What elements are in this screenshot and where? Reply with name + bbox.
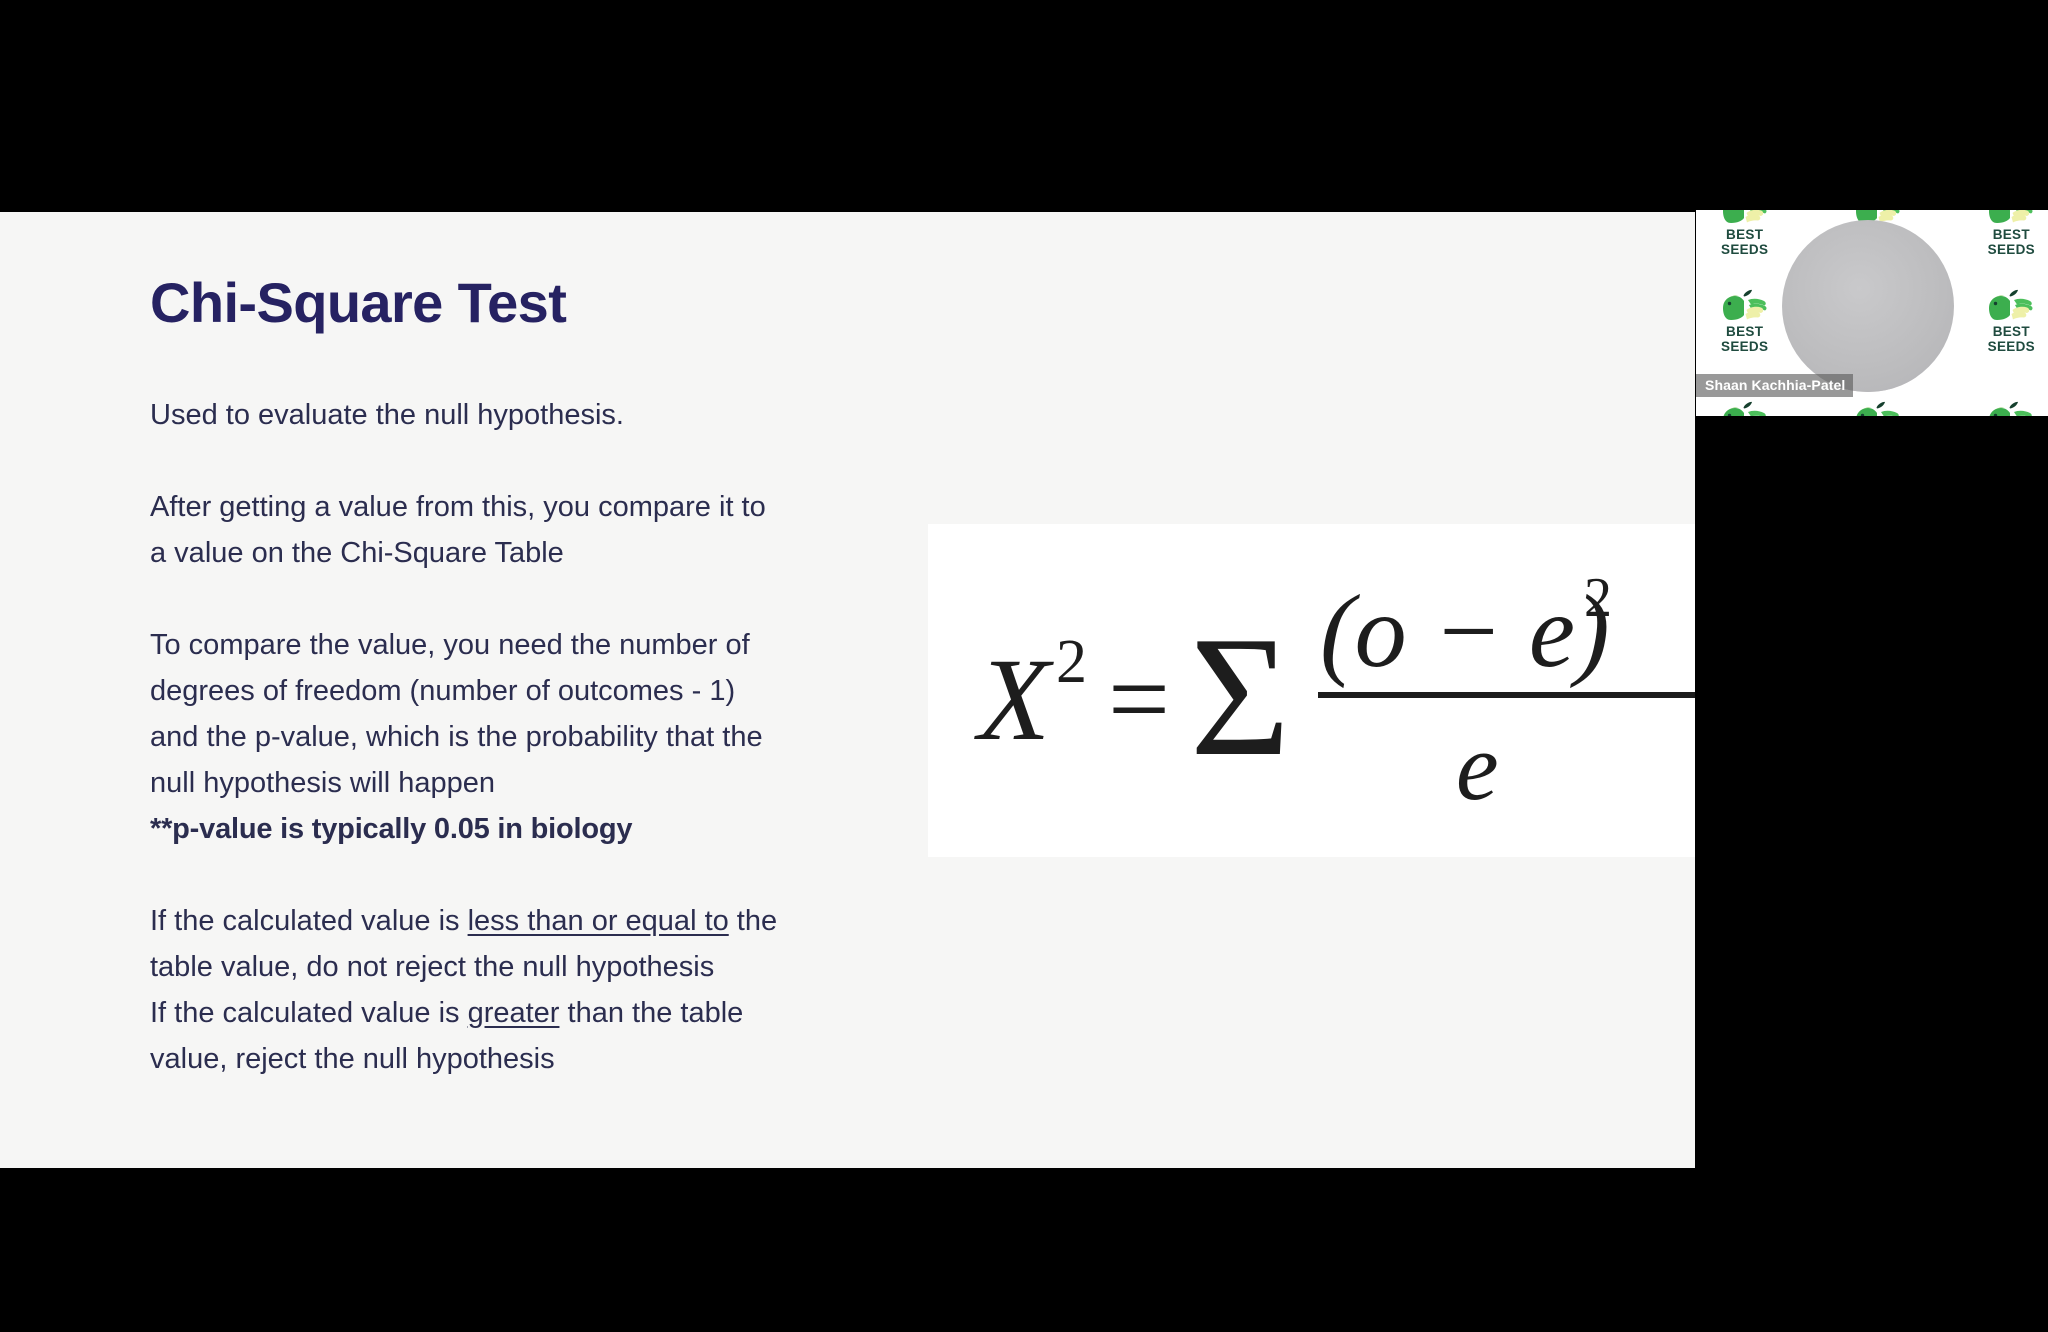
paragraph-intro: Used to evaluate the null hypothesis. <box>150 392 920 438</box>
formula-fraction-bar <box>1318 692 1695 698</box>
webcam-backdrop <box>1782 220 1954 392</box>
presentation-slide: Chi-Square Test Used to evaluate the nul… <box>0 212 1695 1168</box>
body-line: a value on the Chi-Square Table <box>150 537 564 569</box>
paragraph-compare-to-table: After getting a value from this, you com… <box>150 484 920 576</box>
body-line: To compare the value, you need the numbe… <box>150 629 750 661</box>
body-line-part: the <box>729 905 777 937</box>
body-line: After getting a value from this, you com… <box>150 491 766 523</box>
formula-denominator: e <box>1456 713 1499 814</box>
body-line-part: If the calculated value is <box>150 905 468 937</box>
slide-body-text: Used to evaluate the null hypothesis. Af… <box>150 392 920 1082</box>
body-line: and the p-value, which is the probabilit… <box>150 721 763 753</box>
underlined-phrase-less-than-or-equal: less than or equal to <box>468 905 729 937</box>
brand-word-line2: SEEDS <box>1988 243 2035 256</box>
brand-word-line1: BEST <box>1993 325 2030 338</box>
page-title: Chi-Square Test <box>150 274 566 333</box>
paragraph-decision-rules: If the calculated value is less than or … <box>150 898 920 1082</box>
brand-word-line1: BEST <box>1726 228 1763 241</box>
body-line: value, reject the null hypothesis <box>150 1043 555 1075</box>
best-seeds-logo-icon <box>1722 289 1768 323</box>
body-line-part: than the table <box>559 997 743 1029</box>
underlined-phrase-greater: greater <box>468 997 560 1029</box>
brand-word-line1: BEST <box>1993 228 2030 241</box>
best-seeds-logo-icon <box>1722 210 1768 226</box>
body-line-emphasis: **p-value is typically 0.05 in biology <box>150 813 632 845</box>
formula-numerator-exponent: 2 <box>1584 574 1612 629</box>
brand-tile <box>1945 369 2048 416</box>
brand-word-line2: SEEDS <box>1988 340 2035 353</box>
paragraph-degrees-of-freedom: To compare the value, you need the numbe… <box>150 622 920 852</box>
brand-word-line1: BEST <box>1726 325 1763 338</box>
formula-summation-icon: Σ <box>1190 602 1290 792</box>
formula-lhs-exponent: 2 <box>1056 628 1087 696</box>
brand-tile: BEST SEEDS <box>1945 273 2048 370</box>
best-seeds-logo-icon <box>1988 401 2034 416</box>
best-seeds-logo-icon <box>1722 401 1768 416</box>
body-line-part: If the calculated value is <box>150 997 468 1029</box>
participant-video-tile[interactable]: BEST SEEDS BEST SEEDS <box>1696 210 2048 416</box>
body-line: degrees of freedom (number of outcomes -… <box>150 675 735 707</box>
best-seeds-logo-icon <box>1988 289 2034 323</box>
formula-lhs-symbol: X <box>974 634 1054 765</box>
body-line: Used to evaluate the null hypothesis. <box>150 399 624 431</box>
brand-word-line2: SEEDS <box>1721 340 1768 353</box>
formula-graphic: X 2 = Σ (o − e) 2 e <box>968 574 1695 814</box>
formula-numerator: (o − e) <box>1320 574 1610 689</box>
body-line: table value, do not reject the null hypo… <box>150 951 714 983</box>
participant-name-label: Shaan Kachhia-Patel <box>1696 374 1853 397</box>
brand-tile: BEST SEEDS <box>1945 210 2048 273</box>
chi-square-formula-image: X 2 = Σ (o − e) 2 e <box>928 524 1695 857</box>
formula-equals-sign: = <box>1108 638 1170 760</box>
brand-word-line2: SEEDS <box>1721 243 1768 256</box>
screen-share-stage: Chi-Square Test Used to evaluate the nul… <box>0 0 2048 1332</box>
body-line: null hypothesis will happen <box>150 767 495 799</box>
best-seeds-logo-icon <box>1988 210 2034 226</box>
participant-webcam-image <box>1782 220 1954 396</box>
